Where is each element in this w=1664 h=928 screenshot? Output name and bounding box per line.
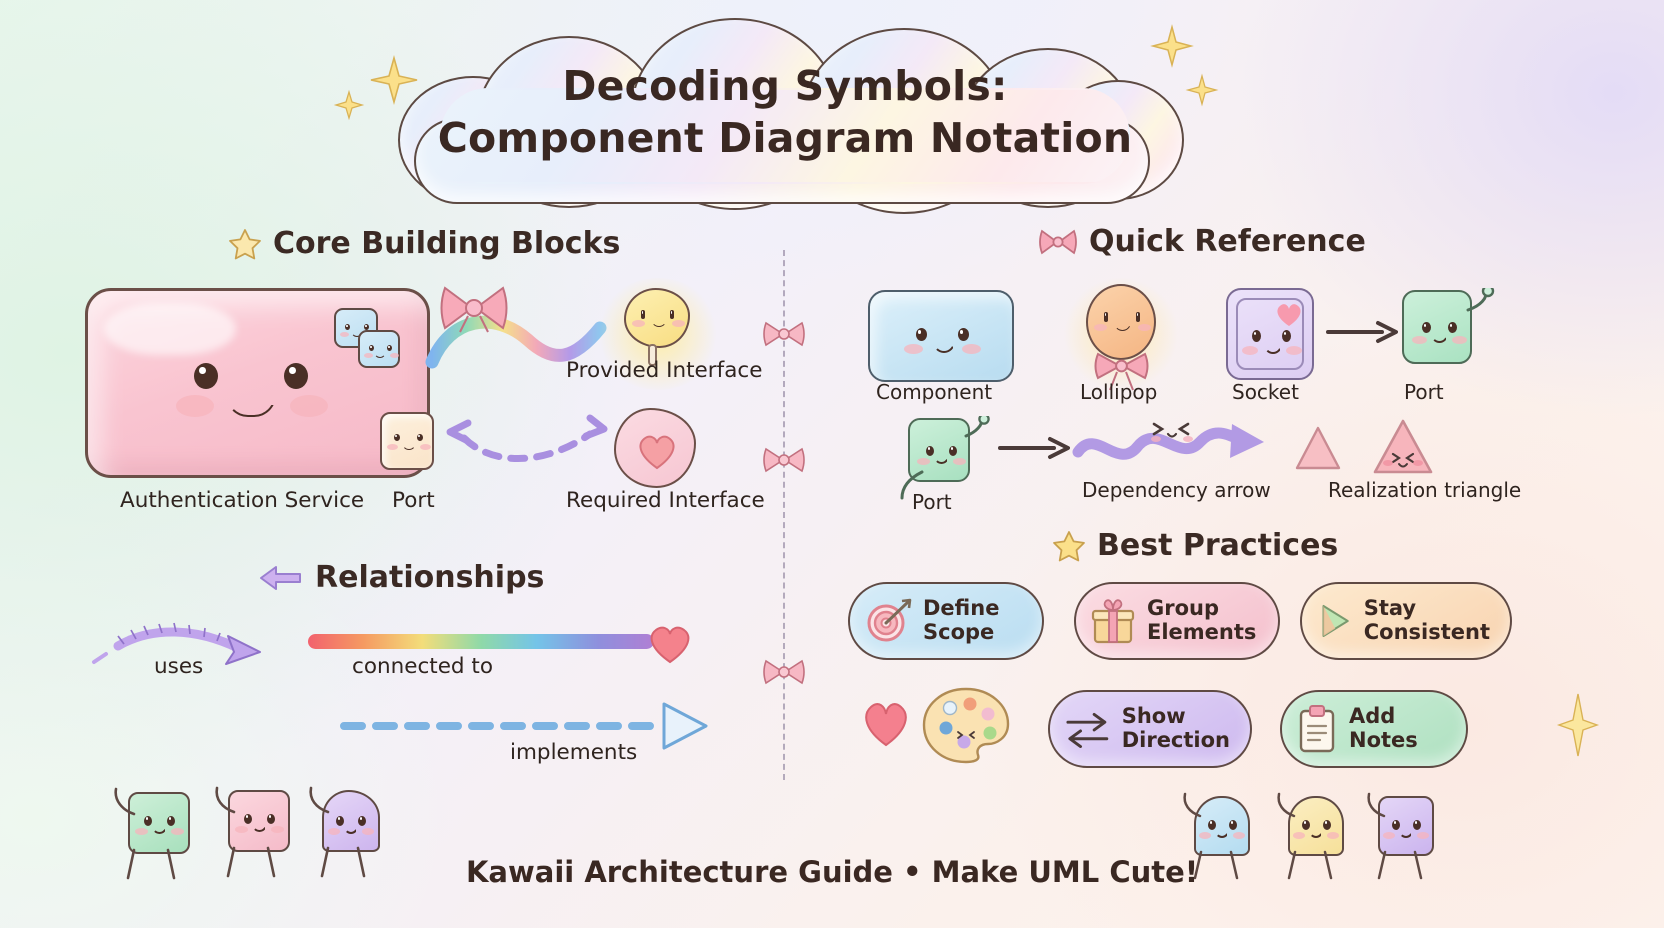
arrow-left-icon: [258, 563, 304, 593]
required-interface-connector: [440, 414, 616, 470]
heart-icon: [860, 700, 912, 748]
qr-component-label: Component: [876, 380, 992, 404]
blue-mascot: [1194, 796, 1250, 856]
purple-mascot: [1378, 796, 1434, 856]
lollipop-icon[interactable]: [624, 288, 690, 348]
socket-heart-icon[interactable]: [614, 408, 696, 488]
qr-dependency-arrow-label: Dependency arrow: [1082, 478, 1271, 502]
quick-reference-heading: Quick Reference: [1038, 224, 1366, 259]
play-triangle-icon: [1316, 598, 1353, 644]
quick-reference-heading-label: Quick Reference: [1089, 224, 1366, 259]
qr-lollipop-label: Lollipop: [1080, 380, 1157, 404]
qr-socket-icon[interactable]: [1226, 288, 1314, 380]
port-square-icon[interactable]: [380, 412, 434, 470]
best-practice-group-elements-label: Group Elements: [1147, 597, 1256, 644]
heart-icon: [636, 432, 678, 470]
arrow-right-icon: [1326, 318, 1398, 346]
qr-port-square-icon[interactable]: [1402, 290, 1472, 364]
yellow-mascot: [1288, 796, 1344, 856]
authentication-service-component[interactable]: [85, 288, 430, 478]
qr-port2-label: Port: [912, 490, 952, 514]
provided-interface-label: Provided Interface: [566, 358, 762, 383]
required-interface-label: Required Interface: [566, 488, 765, 513]
best-practices-heading: Best Practices: [1052, 528, 1338, 563]
bow-icon: [762, 318, 806, 350]
sparkle-icon: [332, 88, 366, 122]
palette-icon[interactable]: [920, 686, 1012, 764]
uses-label: uses: [154, 654, 203, 679]
best-practice-add-notes-label: Add Notes: [1349, 705, 1418, 752]
best-practice-group-elements[interactable]: Group Elements: [1074, 582, 1280, 660]
page-title-line2: Component Diagram Notation: [380, 112, 1190, 164]
infographic-canvas: Decoding Symbols: Component Diagram Nota…: [0, 0, 1664, 928]
purple-mascot: [322, 790, 380, 852]
bow-icon: [762, 656, 806, 688]
qr-port-label: Port: [1404, 380, 1444, 404]
swap-arrows-icon: [1064, 706, 1111, 752]
page-title: Decoding Symbols: Component Diagram Nota…: [380, 60, 1190, 165]
realization-triangle-icon[interactable]: [1372, 418, 1434, 476]
best-practice-stay-consistent-label: Stay Consistent: [1364, 597, 1490, 644]
footer-tagline: Kawaii Architecture Guide • Make UML Cut…: [0, 855, 1664, 889]
best-practice-stay-consistent[interactable]: Stay Consistent: [1300, 582, 1512, 660]
port-arm-icon: [964, 416, 996, 454]
relationships-heading-label: Relationships: [315, 560, 544, 595]
qr-realization-triangle-label: Realization triangle: [1328, 478, 1521, 502]
best-practice-define-scope-label: Define Scope: [923, 597, 999, 644]
green-mascot: [128, 792, 190, 854]
implements-label: implements: [510, 740, 637, 765]
port-arm-icon: [1466, 288, 1500, 328]
target-icon: [864, 597, 912, 645]
best-practice-show-direction[interactable]: Show Direction: [1048, 690, 1252, 768]
qr-component-box-icon[interactable]: [868, 290, 1014, 382]
qr-lollipop-icon[interactable]: [1086, 284, 1156, 360]
bow-icon: [1038, 227, 1078, 257]
title-cloud: Decoding Symbols: Component Diagram Nota…: [380, 14, 1190, 204]
best-practice-add-notes[interactable]: Add Notes: [1280, 690, 1468, 768]
pink-mascot: [228, 790, 290, 852]
best-practice-show-direction-label: Show Direction: [1122, 705, 1230, 752]
port-label: Port: [392, 488, 435, 513]
wavy-arrow-icon: [1072, 412, 1272, 474]
clipboard-icon: [1296, 704, 1338, 754]
qr-socket-label: Socket: [1232, 380, 1299, 404]
gift-icon: [1090, 597, 1136, 645]
best-practices-heading-label: Best Practices: [1097, 528, 1338, 563]
connected-to-label: connected to: [352, 654, 493, 679]
star-icon: [228, 227, 262, 261]
sparkle-icon: [1555, 690, 1601, 760]
arrow-right-icon: [998, 434, 1070, 462]
star-icon: [1052, 529, 1086, 563]
heart-icon: [1275, 302, 1303, 328]
bow-icon: [762, 444, 806, 476]
page-title-line1: Decoding Symbols:: [380, 60, 1190, 112]
core-building-blocks-heading: Core Building Blocks: [228, 226, 620, 261]
relationships-heading: Relationships: [258, 560, 544, 595]
subcomponent-square-icon: [358, 330, 400, 368]
best-practice-define-scope[interactable]: Define Scope: [848, 582, 1044, 660]
core-building-blocks-heading-label: Core Building Blocks: [273, 226, 620, 261]
triangle-icon: [1294, 424, 1342, 472]
bow-icon: [438, 282, 510, 334]
authentication-service-label: Authentication Service: [120, 488, 364, 513]
